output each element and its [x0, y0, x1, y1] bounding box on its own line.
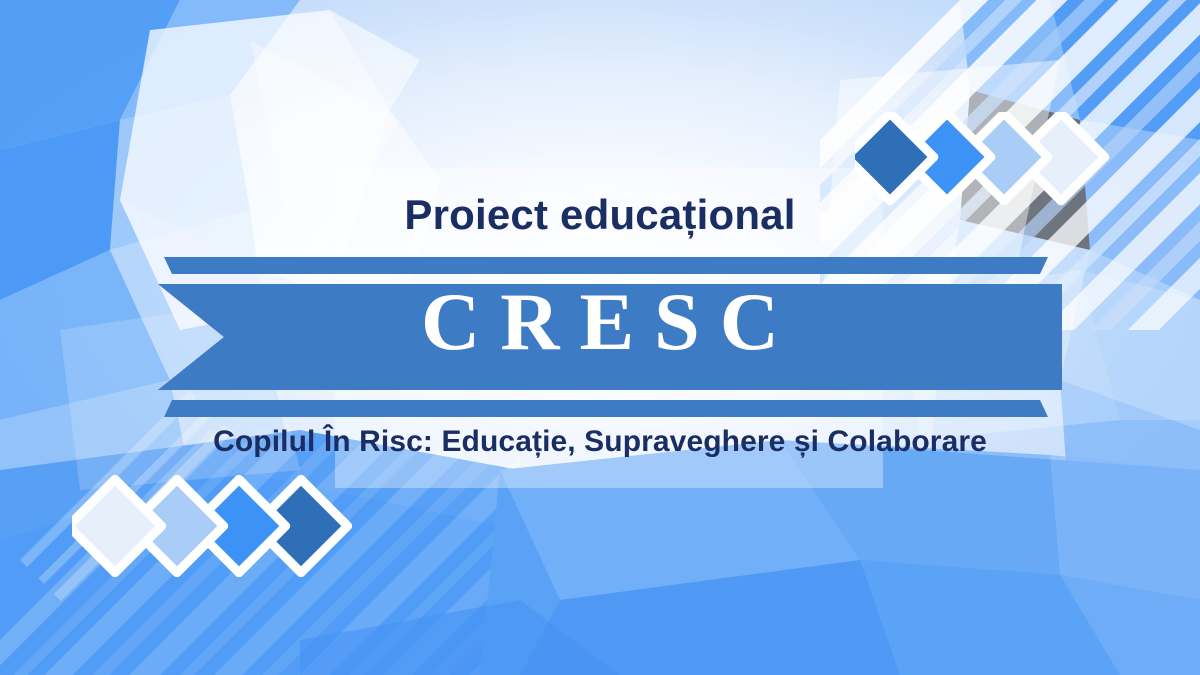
ribbon-top-bar [164, 257, 1048, 274]
poster-canvas: Proiect educațional CRESC Copilul În Ris… [0, 0, 1200, 675]
diamond-row-top-right [855, 112, 1105, 202]
diamond-pale-blue [72, 479, 162, 572]
diamond-row-bottom-left [72, 475, 352, 565]
page-title: Proiect educațional [0, 193, 1200, 237]
ribbon-acronym: CRESC [0, 281, 1200, 363]
ribbon-bottom-bar [164, 400, 1048, 417]
page-subtitle: Copilul În Risc: Educație, Supraveghere … [0, 425, 1200, 459]
polygon-cluster-bottom-right [300, 440, 1200, 675]
diamond-dark-blue [855, 113, 934, 201]
